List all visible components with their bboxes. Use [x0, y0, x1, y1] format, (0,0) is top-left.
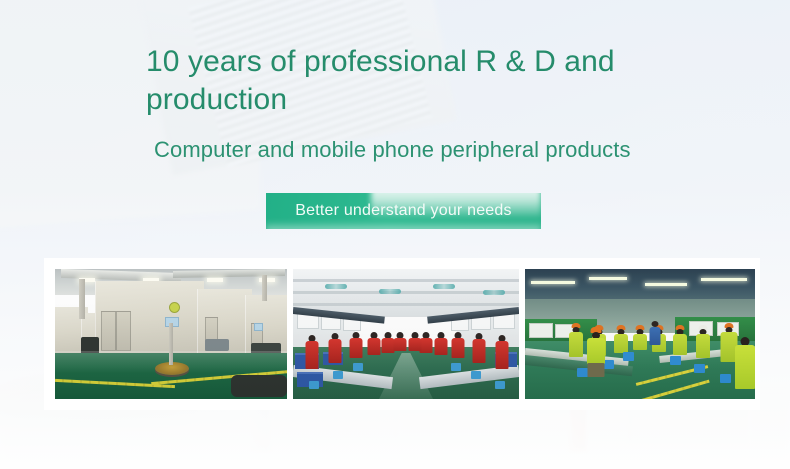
page-subtitle: Computer and mobile phone peripheral pro… — [154, 135, 676, 164]
photo1-column — [262, 275, 267, 301]
cta-button[interactable]: Better understand your needs — [266, 193, 541, 229]
photo2-worker — [420, 332, 432, 351]
photo1-column — [79, 279, 85, 319]
photo2-ceiling-fan — [433, 284, 455, 289]
photo2-worker-uniform — [473, 339, 486, 363]
photo3-worker — [633, 325, 646, 347]
photo2-ceiling-fan — [483, 290, 505, 295]
photo2-worker-uniform — [496, 341, 509, 369]
photo3-stool — [694, 364, 705, 373]
cta-overlay-haze-bottom — [266, 221, 541, 229]
photo2-worker-uniform — [434, 338, 447, 355]
photo1-equipment — [205, 339, 229, 351]
photo2-worker — [493, 335, 511, 369]
photo3-worker — [694, 325, 711, 357]
photo3-ceiling-light — [589, 277, 627, 280]
photo2-stool — [353, 363, 363, 371]
photo1-pallet — [231, 375, 287, 397]
photo3-worker-uniform — [673, 334, 687, 355]
photo3-worker-uniform — [569, 332, 583, 357]
promo-banner: 10 years of professional R & D and produ… — [0, 0, 790, 469]
photo2-stool — [333, 371, 343, 379]
photo3-worker — [672, 325, 687, 353]
photo2-worker-uniform — [350, 338, 363, 358]
photo3-worker-uniform — [587, 338, 605, 364]
photo2-worker-uniform — [452, 338, 465, 358]
photo2-stool — [471, 371, 481, 379]
photo2-ceiling-fan — [325, 284, 347, 289]
photo2-worker — [434, 332, 447, 354]
photo3-supervisor-uniform — [650, 327, 661, 345]
photo2-stool — [495, 381, 505, 389]
photo3-stool — [623, 352, 634, 361]
photo3-stool — [670, 356, 681, 365]
photo3-worker-shorts — [588, 363, 605, 377]
photo2-worker — [451, 332, 465, 358]
photo2-worker-uniform — [393, 338, 406, 351]
photo2-worker-uniform — [408, 338, 421, 351]
gallery-photo-assembly-line-red[interactable] — [293, 269, 519, 399]
photo2-ceiling-beam — [293, 279, 519, 282]
photo2-worker — [349, 332, 363, 358]
photo2-worker — [394, 332, 405, 349]
photo1-machine-label — [254, 323, 263, 331]
photo3-worker-foreground — [735, 337, 755, 391]
photo2-worker-uniform — [420, 338, 433, 353]
photo2-worker — [303, 335, 321, 369]
photo2-worker — [471, 333, 487, 363]
photo2-ceiling-beam — [293, 303, 519, 306]
cta-button-label: Better understand your needs — [295, 202, 511, 220]
gallery-photo-assembly-line-lime[interactable] — [525, 269, 755, 399]
photo2-worker — [327, 333, 343, 363]
photo3-supervisor — [649, 321, 661, 345]
photo3-worker — [613, 325, 628, 351]
hero-text-block: 10 years of professional R & D and produ… — [146, 43, 676, 164]
photo2-worker — [367, 332, 380, 354]
photo3-ceiling — [525, 269, 755, 303]
page-title: 10 years of professional R & D and produ… — [146, 43, 676, 119]
photo2-worker-uniform — [367, 338, 380, 355]
photo3-ceiling-light — [645, 283, 687, 286]
photo2-worker-uniform — [306, 341, 319, 369]
photo3-ceiling-light — [701, 278, 747, 281]
photo2-ceiling-fan — [379, 289, 401, 294]
photo2-worker-uniform — [329, 339, 342, 363]
photo2-stool — [309, 381, 319, 389]
gallery-photo-cnc-machine-shop[interactable] — [55, 269, 287, 399]
photo3-worker — [567, 323, 585, 357]
photo3-stool — [720, 374, 731, 383]
photo2-worker — [409, 332, 420, 349]
photo3-worker-uniform — [633, 334, 647, 350]
photo3-info-board — [529, 323, 553, 338]
photo2-stool — [451, 363, 461, 371]
photo3-ceiling-light — [531, 281, 575, 284]
photo3-worker-uniform — [614, 334, 628, 353]
photo1-spindle — [169, 323, 173, 365]
photo3-worker-uniform — [696, 334, 710, 358]
photo1-machine-door — [116, 311, 131, 351]
photo1-machine-badge — [169, 302, 180, 313]
photo1-machine-door — [101, 311, 116, 351]
gallery-card — [44, 258, 760, 410]
photo1-lamp — [207, 278, 223, 282]
photo3-worker-foreground — [585, 327, 607, 385]
photo3-worker-uniform — [735, 345, 755, 389]
